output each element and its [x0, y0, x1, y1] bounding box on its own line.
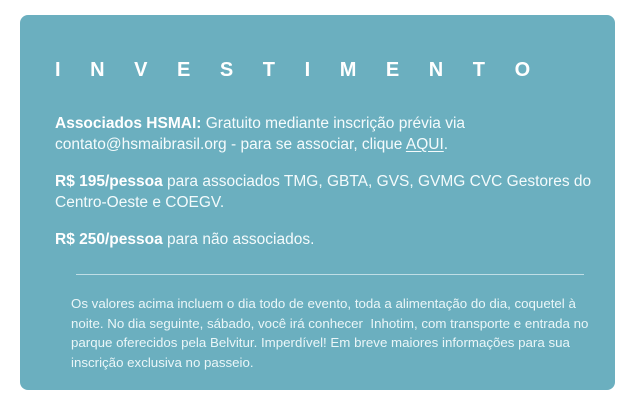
paragraph-price-195: R$ 195/pessoa para associados TMG, GBTA,…	[55, 171, 595, 213]
paragraph-2-lead: R$ 195/pessoa	[55, 173, 163, 190]
section-divider	[76, 274, 584, 275]
paragraph-price-250: R$ 250/pessoa para não associados.	[55, 229, 595, 250]
paragraph-3-lead: R$ 250/pessoa	[55, 231, 163, 248]
paragraph-1-body-after-link: .	[444, 136, 448, 153]
footnote-text: Os valores acima incluem o dia todo de e…	[71, 294, 611, 372]
card-content: I N V E S T I M E N T O Associados HSMAI…	[55, 15, 595, 390]
paragraph-1-lead: Associados HSMAI:	[55, 115, 201, 132]
page-title: I N V E S T I M E N T O	[55, 59, 542, 81]
paragraph-3-body: para não associados.	[163, 231, 315, 248]
investment-card: I N V E S T I M E N T O Associados HSMAI…	[20, 15, 615, 390]
aqui-link[interactable]: AQUI	[406, 136, 444, 153]
paragraph-associados-hsmai: Associados HSMAI: Gratuito mediante insc…	[55, 113, 595, 155]
